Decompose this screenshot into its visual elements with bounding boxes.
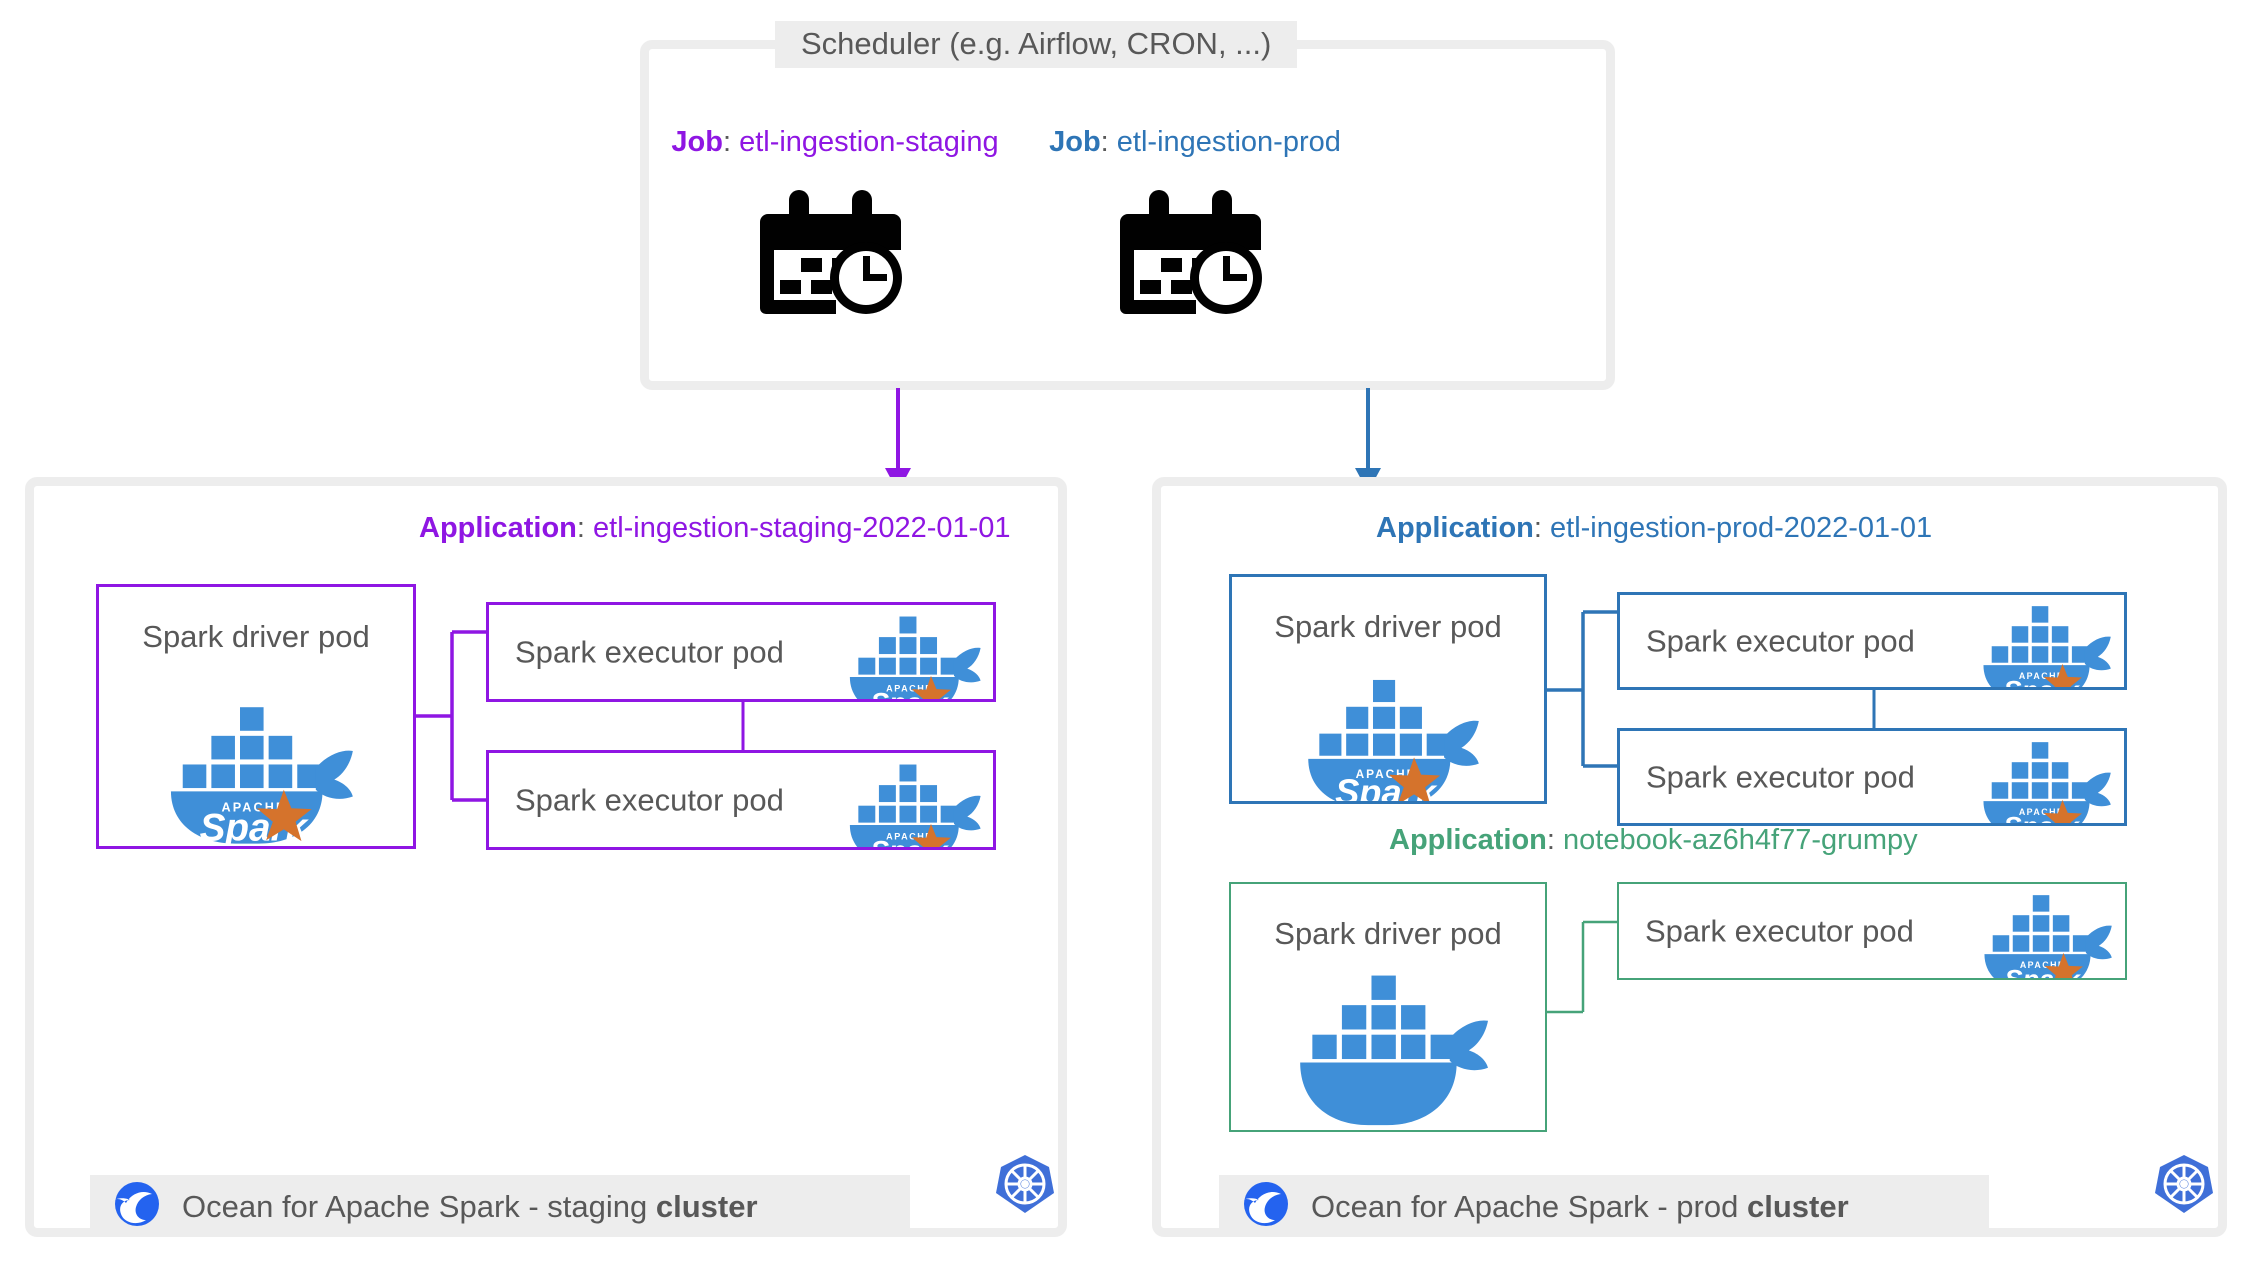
job-label-name: etl-ingestion-prod [1117,126,1341,158]
spark-executor-pod-label: Spark executor pod [1646,762,1915,793]
kubernetes-logo-icon [994,1153,1056,1220]
driver-executor-connector [1547,882,1619,1047]
spark-executor-pod-label: Spark executor pod [1646,626,1915,657]
cluster-footer-label: Ocean for Apache Spark - staging cluster [182,1191,758,1222]
cluster-footer-staging: Ocean for Apache Spark - staging cluster [90,1175,910,1237]
application-etl-ingestion-staging: Application: etl-ingestion-staging-2022-… [34,514,1058,814]
spark-executor-pod[interactable]: Spark executor pod APACHE Spark [486,602,996,702]
application-title: Application: etl-ingestion-prod-2022-01-… [1376,514,1932,543]
application-title: Application: notebook-az6h4f77-grumpy [1389,826,1918,855]
application-title-sep: : [1534,512,1550,544]
cluster-footer-label-prefix: Ocean for Apache Spark - staging [182,1189,656,1224]
job-label-prefix: Job [1049,126,1101,158]
application-notebook-grumpy: Application: notebook-az6h4f77-grumpy Sp… [1161,826,2218,1136]
cluster-staging-group: Application: etl-ingestion-staging-2022-… [25,477,1067,1237]
cluster-prod-group: Application: etl-ingestion-prod-2022-01-… [1152,477,2227,1237]
docker-spark-logo-icon: APACHE Spark [841,750,981,850]
application-title-name: etl-ingestion-staging-2022-01-01 [593,512,1011,544]
spark-driver-pod-label: Spark driver pod [1232,611,1544,642]
kubernetes-logo-icon [2153,1153,2215,1220]
executor-executor-link [739,700,747,757]
spark-executor-pod-label: Spark executor pod [515,637,784,668]
docker-spark-logo-icon: APACHE Spark [1974,592,2112,690]
spark-driver-pod[interactable]: Spark driver pod [1229,882,1547,1132]
application-title-sep: : [1547,824,1563,856]
application-etl-ingestion-prod: Application: etl-ingestion-prod-2022-01-… [1161,514,2218,804]
cluster-footer-label-bold: cluster [656,1189,758,1224]
driver-executor-connector [416,584,488,857]
application-title-name: etl-ingestion-prod-2022-01-01 [1550,512,1932,544]
spark-executor-pod[interactable]: Spark executor pod APACHE Spark [1617,592,2127,690]
executor-executor-link [1870,688,1878,735]
docker-spark-logo-icon: APACHE Spark [1975,882,2113,980]
application-title-prefix: Application [1389,824,1547,856]
spark-executor-pod[interactable]: Spark executor pod APACHE Spark [1617,728,2127,826]
spark-driver-pod[interactable]: Spark driver pod [96,584,416,849]
cluster-footer-prod: Ocean for Apache Spark - prod cluster [1219,1175,1989,1237]
cluster-footer-label-bold: cluster [1747,1189,1849,1224]
job-etl-ingestion-prod[interactable]: Job: etl-ingestion-prod [1005,128,1385,319]
docker-plain-logo-icon [1288,962,1488,1132]
job-label-prefix: Job [671,126,723,158]
job-label: Job: etl-ingestion-staging [645,128,1025,157]
docker-spark-logo-icon: APACHE Spark [159,687,354,849]
spark-executor-pod-label: Spark executor pod [515,785,784,816]
cluster-footer-label-prefix: Ocean for Apache Spark - prod [1311,1189,1747,1224]
application-title-prefix: Application [419,512,577,544]
ocean-spot-logo-icon [108,1176,164,1237]
job-label-sep: : [1101,126,1117,158]
calendar-clock-icon [645,186,1025,319]
spark-driver-pod[interactable]: Spark driver pod APACHE Spark [1229,574,1547,804]
spark-executor-pod[interactable]: Spark executor pod APACHE Spark [1617,882,2127,980]
scheduler-title: Scheduler (e.g. Airflow, CRON, ...) [775,21,1297,68]
application-title: Application: etl-ingestion-staging-2022-… [419,514,1011,543]
spark-executor-pod[interactable]: Spark executor pod APACHE Spark [486,750,996,850]
docker-spark-logo-icon: APACHE Spark [1974,728,2112,826]
application-title-sep: : [577,512,593,544]
job-label: Job: etl-ingestion-prod [1005,128,1385,157]
job-etl-ingestion-staging[interactable]: Job: etl-ingestion-staging [645,128,1025,319]
spark-executor-pod-label: Spark executor pod [1645,916,1914,947]
application-title-prefix: Application [1376,512,1534,544]
ocean-spot-logo-icon [1237,1176,1293,1237]
job-label-sep: : [723,126,739,158]
spark-driver-pod-label: Spark driver pod [1231,918,1545,949]
docker-spark-logo-icon: APACHE Spark [841,602,981,702]
docker-spark-logo-icon: APACHE Spark [1296,661,1481,804]
calendar-clock-icon [1005,186,1385,319]
application-title-name: notebook-az6h4f77-grumpy [1563,824,1918,856]
spark-driver-pod-label: Spark driver pod [99,621,413,652]
cluster-footer-label: Ocean for Apache Spark - prod cluster [1311,1191,1849,1222]
job-label-name: etl-ingestion-staging [739,126,999,158]
driver-executor-connector [1547,574,1619,815]
